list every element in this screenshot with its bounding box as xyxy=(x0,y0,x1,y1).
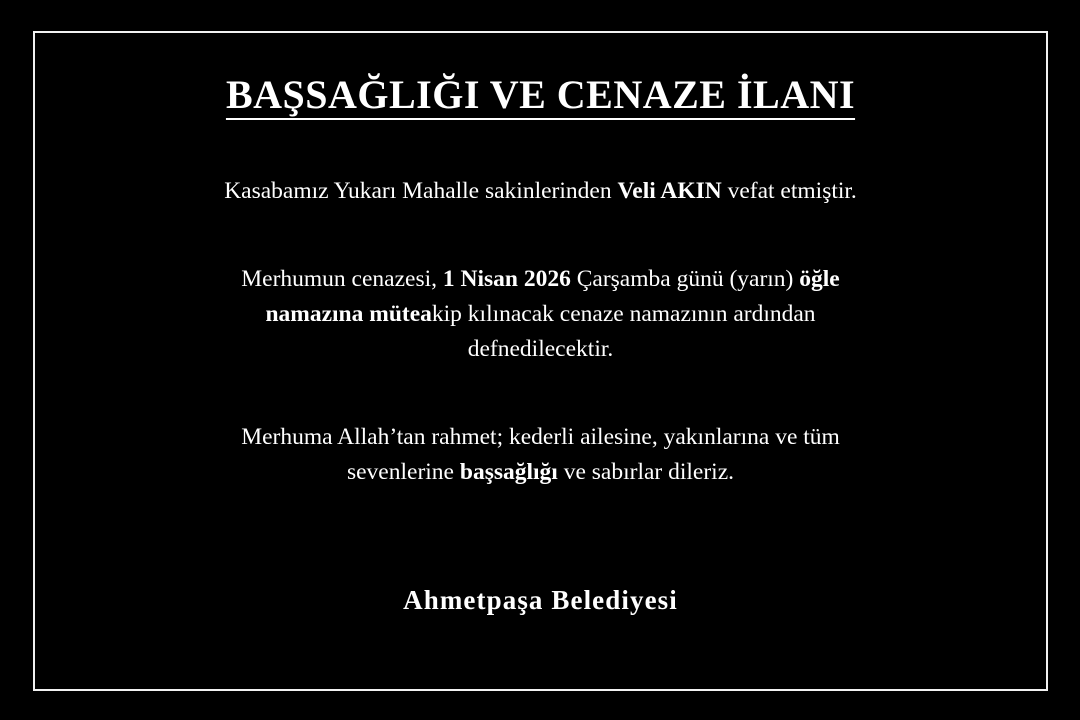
body-text: Merhumun cenazesi, xyxy=(241,266,443,292)
funeral-notice-poster: BAŞSAĞLIĞI VE CENAZE İLANI Kasabamız Yuk… xyxy=(0,0,1080,720)
body-text: Çarşamba günü (yarın) xyxy=(571,266,799,292)
body-text: kip kılınacak cenaze namazının ardından … xyxy=(432,301,816,362)
paragraph-condolences: Merhuma Allah’tan rahmet; kederli ailesi… xyxy=(231,420,851,490)
page-title: BAŞSAĞLIĞI VE CENAZE İLANI xyxy=(226,73,855,117)
body-text: Kasabamız Yukarı Mahalle sakinlerinden xyxy=(224,178,617,204)
paragraph-funeral-details: Merhumun cenazesi, 1 Nisan 2026 Çarşamba… xyxy=(211,262,871,367)
emphasis-text: başsağlığı xyxy=(460,459,558,485)
emphasis-text: 1 Nisan 2026 xyxy=(443,266,571,292)
paragraph-death-notice: Kasabamız Yukarı Mahalle sakinlerinden V… xyxy=(224,174,857,209)
emphasis-text: Veli AKIN xyxy=(617,178,721,204)
body-text: vefat etmiştir. xyxy=(722,178,857,204)
body-text: ve sabırlar dileriz. xyxy=(558,459,734,485)
issuer-signature: Ahmetpaşa Belediyesi xyxy=(403,585,678,616)
poster-content: BAŞSAĞLIĞI VE CENAZE İLANI Kasabamız Yuk… xyxy=(33,31,1048,691)
